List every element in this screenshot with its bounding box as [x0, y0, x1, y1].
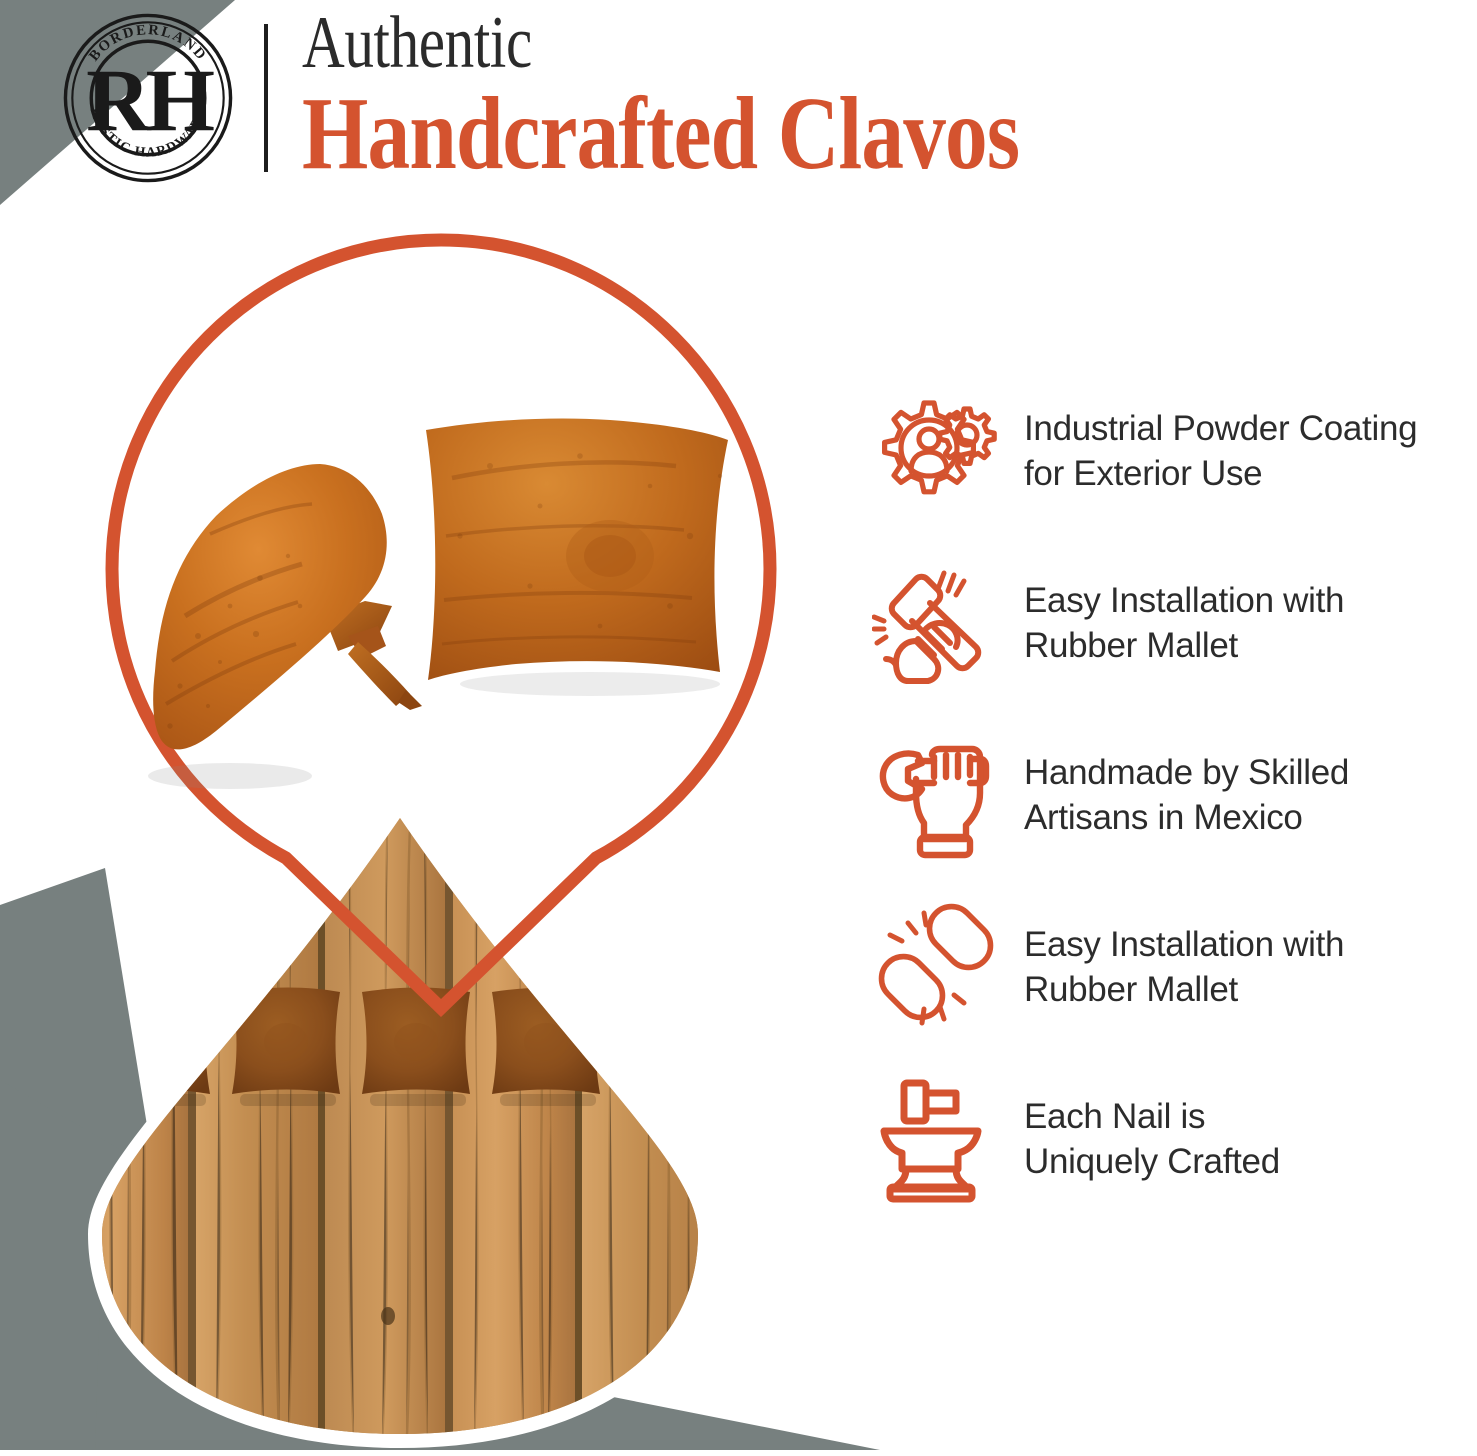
- page-title: Handcrafted Clavos: [302, 81, 1266, 187]
- feature-item[interactable]: Easy Installation with Rubber Mallet: [848, 881, 1468, 1053]
- feature-label: Easy Installation with Rubber Mallet: [1024, 578, 1344, 669]
- brand-logo[interactable]: BORDERLAND RUSTIC HARDWARE RH: [48, 13, 248, 183]
- feature-item[interactable]: Easy Installation with Rubber Mallet: [848, 537, 1468, 709]
- feature-icon-slot: [848, 903, 1024, 1031]
- feature-label: Industrial Powder Coating for Exterior U…: [1024, 406, 1417, 497]
- feature-icon-slot: [848, 731, 1024, 859]
- feature-label: Each Nail is Uniquely Crafted: [1024, 1094, 1280, 1185]
- clavo-tilted: [148, 464, 422, 789]
- clavo-flat-head: [426, 418, 728, 696]
- page-subtitle: Authentic: [302, 8, 1242, 79]
- page-header: BORDERLAND RUSTIC HARDWARE RH Authentic …: [0, 0, 1477, 196]
- feature-item[interactable]: Industrial Powder Coating for Exterior U…: [848, 365, 1468, 537]
- logo-monogram: RH: [86, 51, 214, 150]
- feature-item[interactable]: Handmade by Skilled Artisans in Mexico: [848, 709, 1468, 881]
- feature-icon-slot: [848, 387, 1024, 515]
- borderland-rustic-hardware-seal-logo: BORDERLAND RUSTIC HARDWARE RH: [62, 12, 234, 184]
- header-titles: Authentic Handcrafted Clavos: [302, 8, 1477, 187]
- hand-wrench-icon: [872, 731, 1000, 859]
- feature-icon-slot: [848, 559, 1024, 687]
- gears-person-icon: [872, 387, 1000, 515]
- feature-icon-slot: [848, 1075, 1024, 1203]
- clavo-center-dimple-inner: [584, 535, 636, 577]
- clavo-shadow: [460, 672, 720, 696]
- feature-list: Industrial Powder Coating for Exterior U…: [848, 365, 1468, 1225]
- clavos-product-photo: [110, 306, 770, 866]
- clavo-shadow: [148, 763, 312, 789]
- anvil-hammer-icon: [872, 1075, 1000, 1203]
- hand-mallet-icon: [872, 559, 1000, 687]
- product-visual-column: [0, 196, 830, 1450]
- wood-knot: [381, 1307, 395, 1325]
- feature-label: Easy Installation with Rubber Mallet: [1024, 922, 1344, 1013]
- feature-item[interactable]: Each Nail is Uniquely Crafted: [848, 1053, 1468, 1225]
- feature-label: Handmade by Skilled Artisans in Mexico: [1024, 750, 1349, 841]
- chain-links-icon: [872, 903, 1000, 1031]
- header-divider: [264, 24, 268, 172]
